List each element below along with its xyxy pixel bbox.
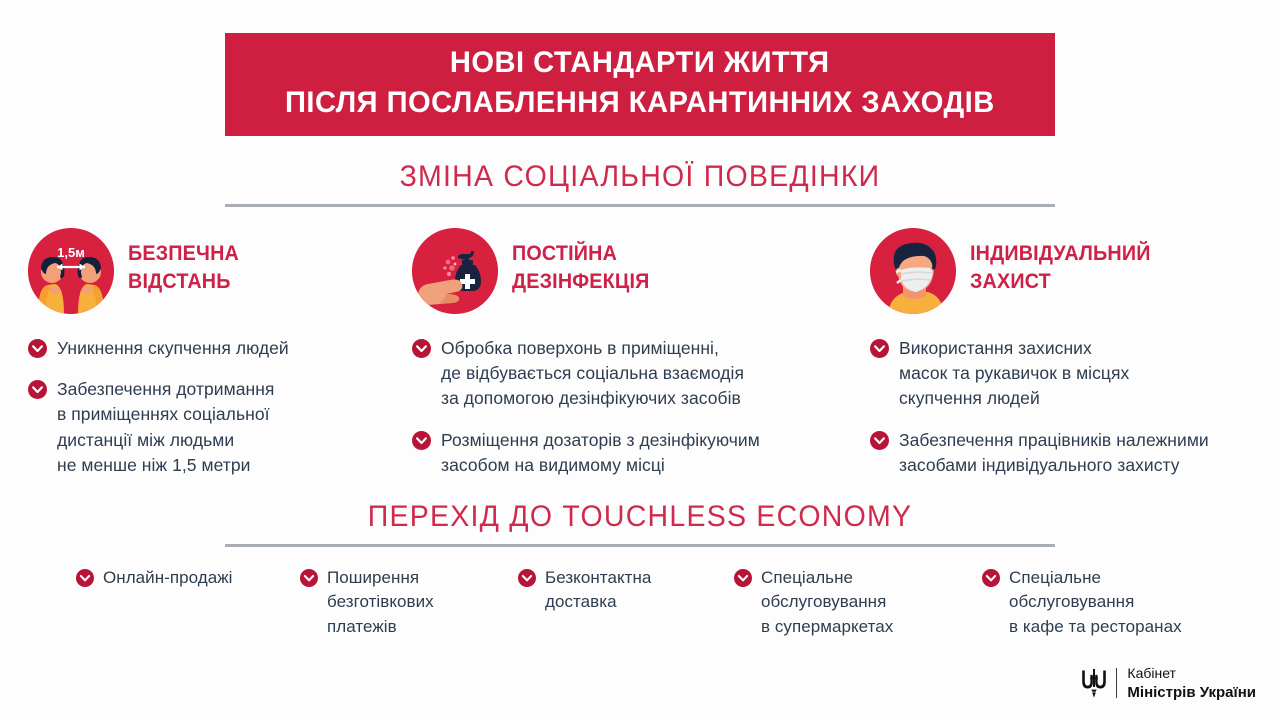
list-item-line: Безконтактна <box>545 566 651 590</box>
section-header-social-behaviour-label: ЗМІНА СОЦІАЛЬНОЇ ПОВЕДІНКИ <box>246 160 1035 204</box>
bullet-item: Забезпечення дотримання в приміщеннях со… <box>28 377 388 478</box>
column-disinfection: ПОСТІЙНА ДЕЗІНФЕКЦІЯ Обробка поверхонь в… <box>412 228 842 478</box>
social-distance-icon: 1,5м <box>28 228 114 314</box>
list-item-line: Спеціальне <box>761 566 893 590</box>
column-title-line-2: ВІДСТАНЬ <box>128 268 239 296</box>
column-safe-distance-header: 1,5м БЕЗПЕЧНА ВІДСТАНЬ <box>28 228 388 324</box>
section-header-touchless-economy: ПЕРЕХІД ДО TOUCHLESS ECONOMY <box>225 500 1055 547</box>
chevron-down-bullet-icon <box>300 569 318 587</box>
column-safe-distance: 1,5м БЕЗПЕЧНА ВІДСТАНЬ <box>28 228 388 478</box>
bullet-line: Розміщення дозаторів з дезінфікуючим <box>441 428 760 453</box>
main-title-banner: НОВІ СТАНДАРТИ ЖИТТЯ ПІСЛЯ ПОСЛАБЛЕННЯ К… <box>225 33 1055 136</box>
bullet-line: скупчення людей <box>899 386 1129 411</box>
chevron-down-bullet-icon <box>870 431 889 450</box>
list-item-text: Безконтактна доставка <box>545 566 651 615</box>
chevron-down-bullet-icon <box>734 569 752 587</box>
bullet-text: Уникнення скупчення людей <box>57 336 289 361</box>
column-personal-protection: ІНДИВІДУАЛЬНИЙ ЗАХИСТ Використання захис… <box>870 228 1270 478</box>
logo-line-2: Міністрів України <box>1127 683 1256 702</box>
chevron-down-bullet-icon <box>518 569 536 587</box>
bullet-item: Забезпечення працівників належними засоб… <box>870 428 1270 478</box>
list-item-text: Онлайн-продажі <box>103 566 233 590</box>
main-title-line-2: ПІСЛЯ ПОСЛАБЛЕННЯ КАРАНТИННИХ ЗАХОДІВ <box>285 83 995 123</box>
section-divider-rule <box>225 204 1055 207</box>
bullet-line: масок та рукавичок в місцях <box>899 361 1129 386</box>
list-item-line: Спеціальне <box>1009 566 1182 590</box>
logo-text: Кабінет Міністрів України <box>1126 665 1256 702</box>
hand-sanitizer-icon <box>412 228 498 314</box>
column-personal-protection-title: ІНДИВІДУАЛЬНИЙ ЗАХИСТ <box>970 228 1151 295</box>
chevron-down-bullet-icon <box>28 339 47 358</box>
touchless-economy-items: Онлайн-продажі Поширення безготівкових п… <box>0 566 1280 646</box>
list-item-text: Спеціальне обслуговування в супермаркета… <box>761 566 893 639</box>
bullet-text: Використання захисних масок та рукавичок… <box>899 336 1129 412</box>
column-personal-protection-bullets: Використання захисних масок та рукавичок… <box>870 336 1270 478</box>
list-item: Спеціальне обслуговування в супермаркета… <box>734 566 893 639</box>
column-safe-distance-bullets: Уникнення скупчення людей Забезпечення д… <box>28 336 388 478</box>
chevron-down-bullet-icon <box>870 339 889 358</box>
column-title-line-1: ПОСТІЙНА <box>512 240 650 268</box>
bullet-text: Обробка поверхонь в приміщенні, де відбу… <box>441 336 744 412</box>
section-header-social-behaviour: ЗМІНА СОЦІАЛЬНОЇ ПОВЕДІНКИ <box>225 160 1055 207</box>
chevron-down-bullet-icon <box>412 431 431 450</box>
social-behaviour-columns: 1,5м БЕЗПЕЧНА ВІДСТАНЬ <box>0 228 1280 478</box>
list-item-line: обслуговування <box>1009 590 1182 614</box>
bullet-line: засобом на видимому місці <box>441 453 760 478</box>
bullet-item: Обробка поверхонь в приміщенні, де відбу… <box>412 336 842 412</box>
list-item-line: безготівкових <box>327 590 434 614</box>
bullet-line: дистанції між людьми <box>57 428 274 453</box>
bullet-line: Обробка поверхонь в приміщенні, <box>441 336 744 361</box>
list-item-line: Поширення <box>327 566 434 590</box>
cabinet-of-ministers-logo: Кабінет Міністрів України <box>1081 665 1256 702</box>
chevron-down-bullet-icon <box>76 569 94 587</box>
list-item: Поширення безготівкових платежів <box>300 566 434 639</box>
column-personal-protection-header: ІНДИВІДУАЛЬНИЙ ЗАХИСТ <box>870 228 1270 324</box>
bullet-line: Забезпечення працівників належними <box>899 428 1209 453</box>
ukraine-trident-icon <box>1081 667 1107 699</box>
chevron-down-bullet-icon <box>28 380 47 399</box>
main-title-line-1: НОВІ СТАНДАРТИ ЖИТТЯ <box>450 43 830 83</box>
list-item-line: в кафе та ресторанах <box>1009 615 1182 639</box>
column-title-line-1: БЕЗПЕЧНА <box>128 240 239 268</box>
column-title-line-2: ДЕЗІНФЕКЦІЯ <box>512 268 650 296</box>
bullet-item: Уникнення скупчення людей <box>28 336 388 361</box>
list-item-text: Поширення безготівкових платежів <box>327 566 434 639</box>
list-item-text: Спеціальне обслуговування в кафе та рест… <box>1009 566 1182 639</box>
column-title-line-2: ЗАХИСТ <box>970 268 1151 296</box>
list-item-line: Онлайн-продажі <box>103 566 233 590</box>
chevron-down-bullet-icon <box>412 339 431 358</box>
bullet-line: Використання захисних <box>899 336 1129 361</box>
column-disinfection-title: ПОСТІЙНА ДЕЗІНФЕКЦІЯ <box>512 228 650 295</box>
column-disinfection-bullets: Обробка поверхонь в приміщенні, де відбу… <box>412 336 842 478</box>
bullet-line: в приміщеннях соціальної <box>57 402 274 427</box>
svg-text:1,5м: 1,5м <box>57 245 85 260</box>
bullet-item: Використання захисних масок та рукавичок… <box>870 336 1270 412</box>
bullet-item: Розміщення дозаторів з дезінфікуючим зас… <box>412 428 842 478</box>
bullet-line: де відбувається соціальна взаємодія <box>441 361 744 386</box>
bullet-text: Розміщення дозаторів з дезінфікуючим зас… <box>441 428 760 478</box>
list-item: Безконтактна доставка <box>518 566 651 615</box>
list-item: Спеціальне обслуговування в кафе та рест… <box>982 566 1182 639</box>
bullet-text: Забезпечення працівників належними засоб… <box>899 428 1209 478</box>
bullet-line: засобами індивідуального захисту <box>899 453 1209 478</box>
list-item-line: доставка <box>545 590 651 614</box>
section-header-touchless-economy-label: ПЕРЕХІД ДО TOUCHLESS ECONOMY <box>246 500 1035 544</box>
bullet-text: Забезпечення дотримання в приміщеннях со… <box>57 377 274 478</box>
list-item-line: в супермаркетах <box>761 615 893 639</box>
bullet-line: Забезпечення дотримання <box>57 377 274 402</box>
list-item-line: обслуговування <box>761 590 893 614</box>
bullet-line: не менше ніж 1,5 метри <box>57 453 274 478</box>
chevron-down-bullet-icon <box>982 569 1000 587</box>
logo-line-1: Кабінет <box>1127 665 1256 683</box>
list-item-line: платежів <box>327 615 434 639</box>
column-disinfection-header: ПОСТІЙНА ДЕЗІНФЕКЦІЯ <box>412 228 842 324</box>
column-title-line-1: ІНДИВІДУАЛЬНИЙ <box>970 240 1151 268</box>
face-mask-person-icon <box>870 228 956 314</box>
bullet-line: за допомогою дезінфікуючих засобів <box>441 386 744 411</box>
logo-divider <box>1116 668 1118 698</box>
section-divider-rule <box>225 544 1055 547</box>
infographic-page: НОВІ СТАНДАРТИ ЖИТТЯ ПІСЛЯ ПОСЛАБЛЕННЯ К… <box>0 0 1280 720</box>
bullet-line: Уникнення скупчення людей <box>57 336 289 361</box>
list-item: Онлайн-продажі <box>76 566 233 590</box>
column-safe-distance-title: БЕЗПЕЧНА ВІДСТАНЬ <box>128 228 239 295</box>
